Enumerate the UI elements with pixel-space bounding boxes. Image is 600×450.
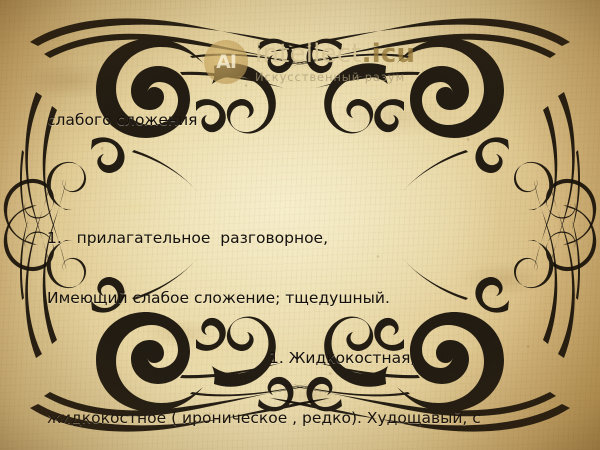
dictionary-entry-text: слабого сложения 1. прилагательное разго…	[47, 70, 557, 450]
paragraph-spacer	[47, 170, 557, 188]
entry-headline: слабого сложения	[47, 110, 557, 130]
entry-line-4: жидкокостное ( ироническое , редко). Худ…	[47, 408, 557, 428]
watermark-brand: intellect.icu	[255, 41, 415, 67]
entry-line-3: 1. Жидкокостная,	[47, 348, 557, 368]
parchment-page: AI intellect.icu Искусственный разум сла…	[0, 0, 600, 450]
watermark-brand-name: intellect	[255, 39, 362, 69]
watermark-brand-tld: .icu	[362, 39, 416, 69]
entry-line-2: Имеющий слабое сложение; тщедушный.	[47, 288, 557, 308]
entry-line-1: 1. прилагательное разговорное,	[47, 228, 557, 248]
